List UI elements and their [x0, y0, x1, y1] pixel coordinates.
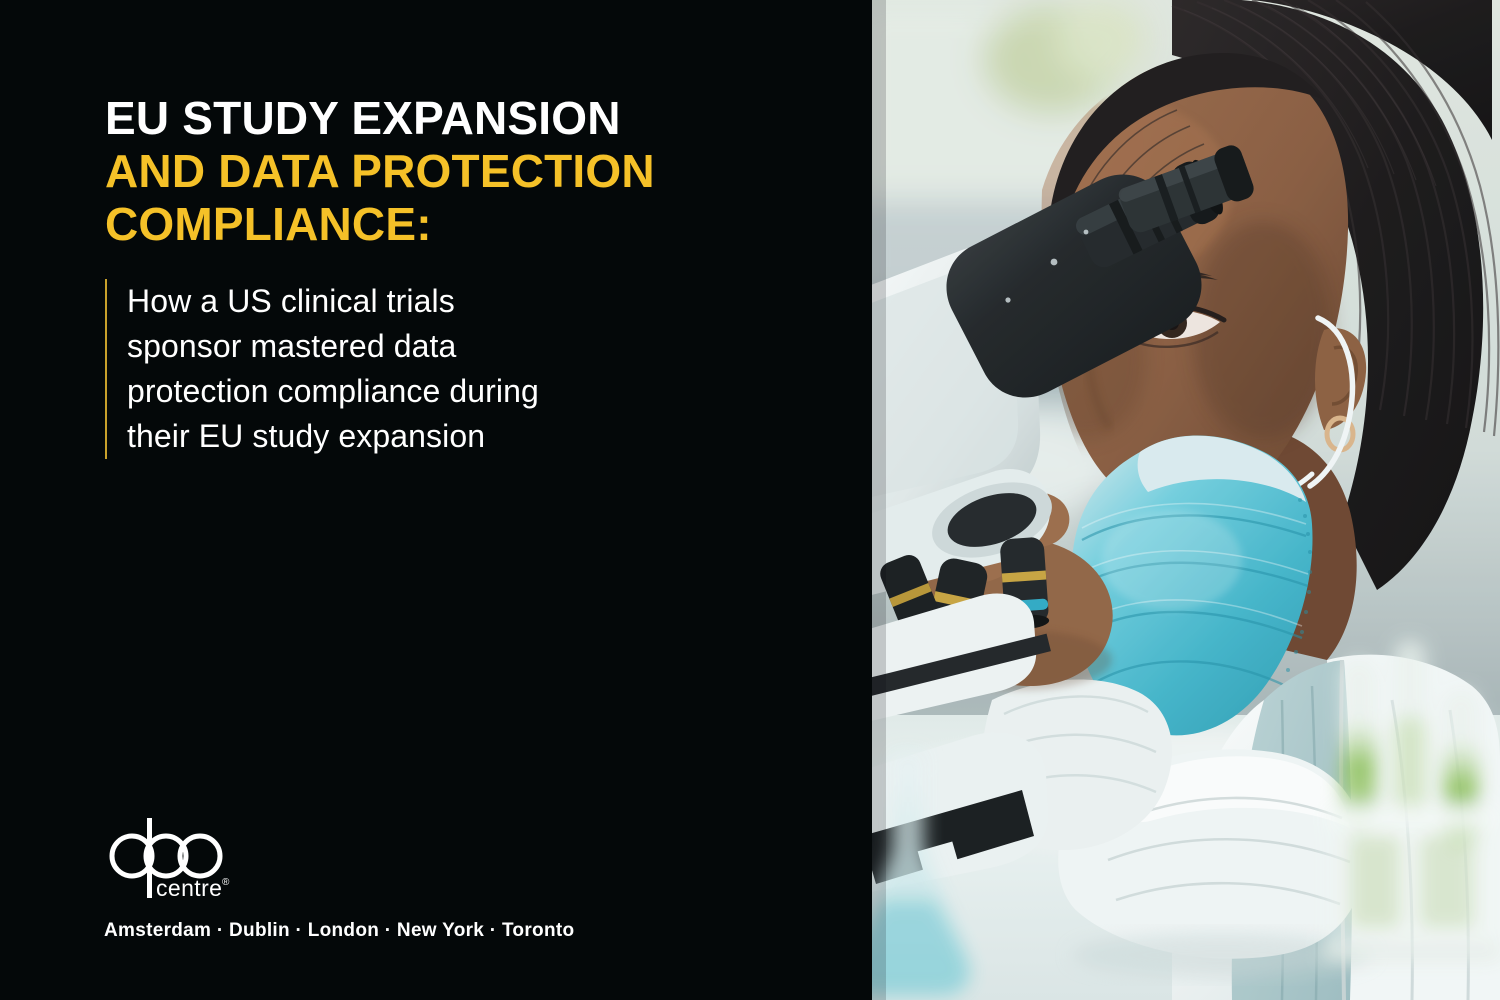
hero-photo-scientist-microscope — [872, 0, 1500, 1000]
subtitle-block: How a US clinical trials sponsor mastere… — [105, 279, 539, 459]
brand-logo-block: centre ® Amsterdam · Dublin · London · N… — [104, 812, 574, 942]
subtitle-line-4: their EU study expansion — [127, 414, 539, 459]
dpo-centre-logo-icon: centre ® — [104, 812, 234, 904]
case-study-banner: EU STUDY EXPANSION AND DATA PROTECTION C… — [0, 0, 1500, 1000]
headline-line-3: COMPLIANCE: — [105, 198, 765, 251]
subtitle-line-2: sponsor mastered data — [127, 324, 539, 369]
page-title: EU STUDY EXPANSION AND DATA PROTECTION C… — [105, 92, 765, 251]
subtitle-line-3: protection compliance during — [127, 369, 539, 414]
svg-text:®: ® — [222, 877, 230, 888]
left-content-panel: EU STUDY EXPANSION AND DATA PROTECTION C… — [0, 0, 872, 1000]
headline-line-2: AND DATA PROTECTION — [105, 145, 765, 198]
svg-text:centre: centre — [156, 875, 222, 901]
office-locations: Amsterdam · Dublin · London · New York ·… — [104, 920, 574, 942]
subtitle-line-1: How a US clinical trials — [127, 279, 539, 324]
subtitle: How a US clinical trials sponsor mastere… — [107, 279, 539, 459]
headline-line-1: EU STUDY EXPANSION — [105, 92, 765, 145]
